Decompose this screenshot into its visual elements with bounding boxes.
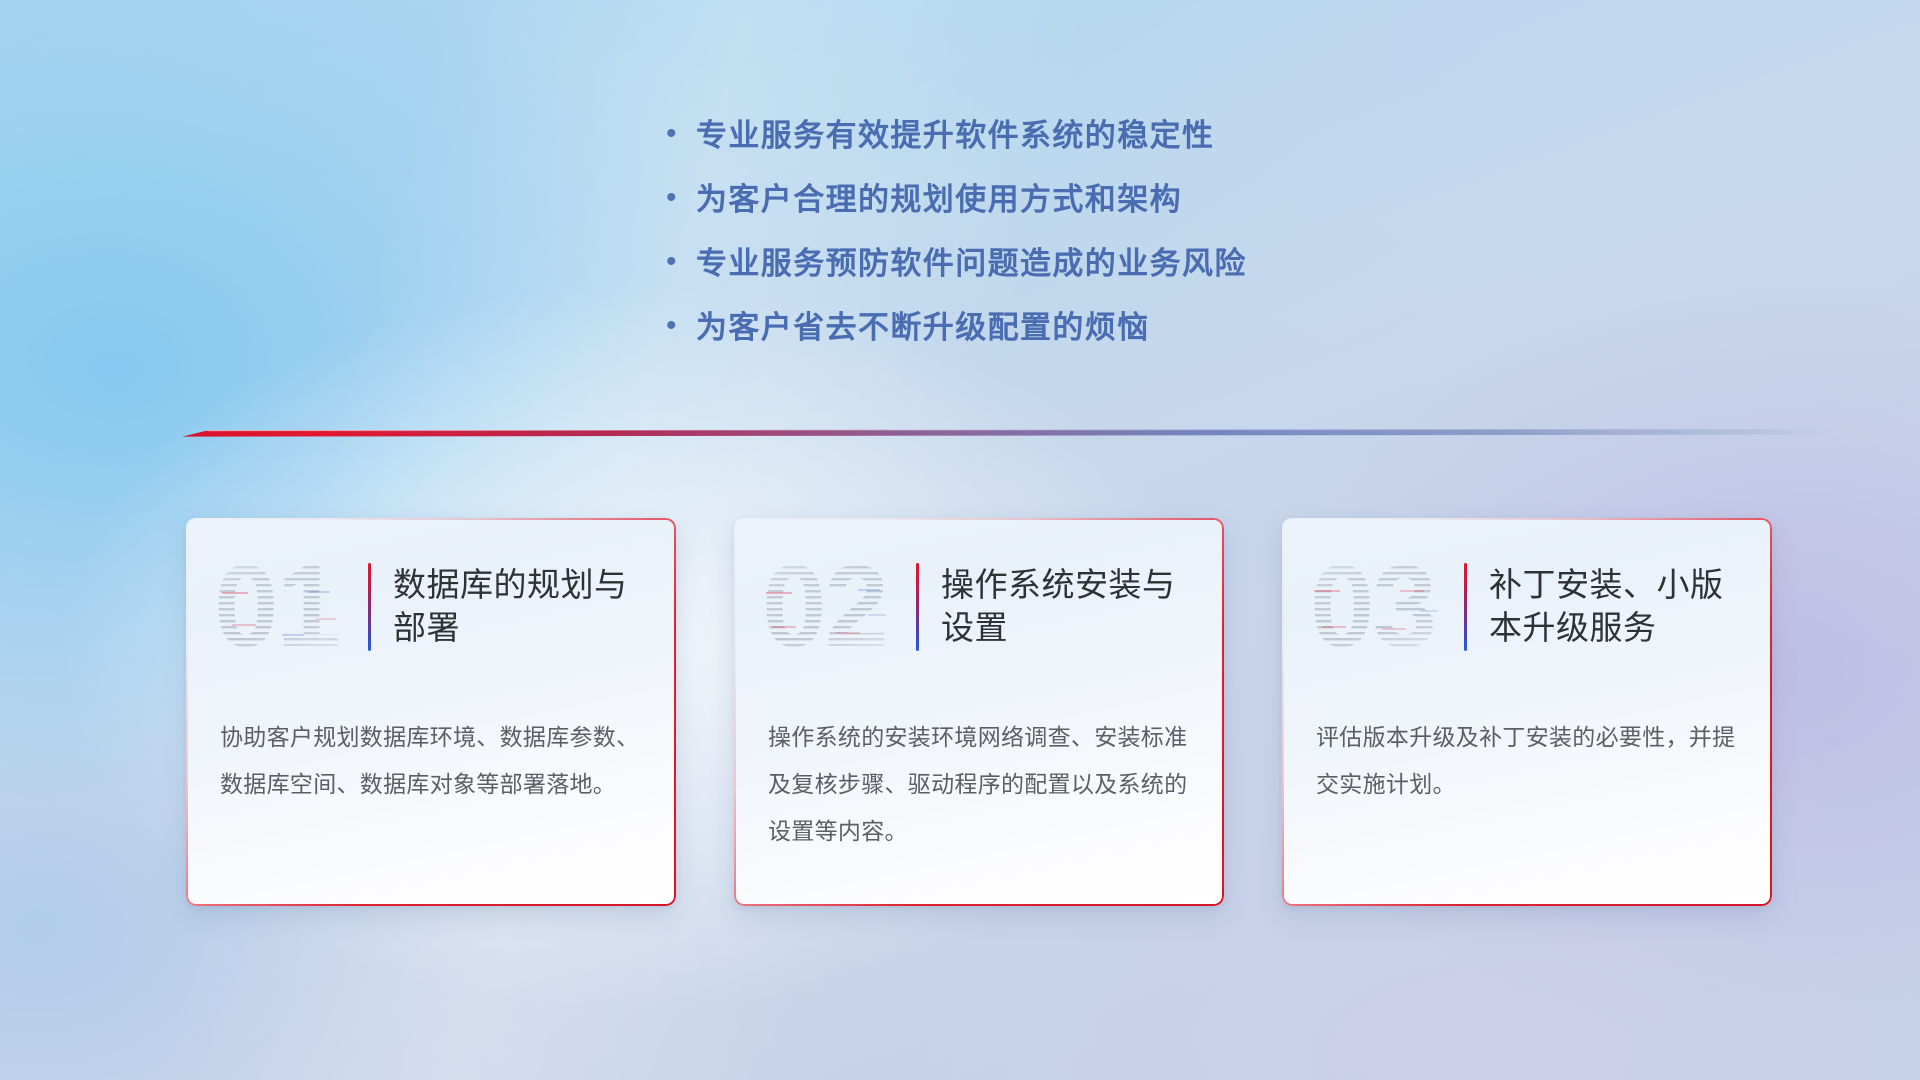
service-card[interactable]: 01 数据库的规划与部署 协助客户规划数据库环境、数据库参数、数据库空间 xyxy=(186,518,676,906)
card-header: 02 操作系统安装与设置 xyxy=(734,544,1224,670)
card-title-accent-bar xyxy=(368,563,371,651)
card-body-text: 协助客户规划数据库环境、数据库参数、数据库空间、数据库对象等部署落地。 xyxy=(220,714,648,808)
svg-text:01: 01 xyxy=(214,548,339,666)
list-item: • 为客户合理的规划使用方式和架构 xyxy=(666,174,1426,238)
card-body-text: 评估版本升级及补丁安装的必要性，并提交实施计划。 xyxy=(1316,714,1744,808)
card-title: 数据库的规划与部署 xyxy=(393,564,676,650)
svg-text:03: 03 xyxy=(1310,548,1435,666)
bullet-dot-icon: • xyxy=(666,119,696,149)
card-title: 补丁安装、小版本升级服务 xyxy=(1489,564,1772,650)
card-number-graphic: 03 xyxy=(1308,548,1458,666)
card-number-graphic: 01 xyxy=(212,548,362,666)
service-card-group: 01 数据库的规划与部署 协助客户规划数据库环境、数据库参数、数据库空间 xyxy=(186,518,1758,910)
card-body-text: 操作系统的安装环境网络调查、安装标准及复核步骤、驱动程序的配置以及系统的设置等内… xyxy=(768,714,1196,855)
list-item: • 专业服务预防软件问题造成的业务风险 xyxy=(666,238,1426,302)
svg-text:02: 02 xyxy=(762,548,887,666)
card-title-accent-bar xyxy=(1464,563,1467,651)
benefits-bullet-list: • 专业服务有效提升软件系统的稳定性 • 为客户合理的规划使用方式和架构 • 专… xyxy=(666,110,1426,366)
service-card[interactable]: 02 操作系统安装与设置 操作系统的安装环境网络调查、安装标准及复核步骤 xyxy=(734,518,1224,906)
slide-canvas: • 专业服务有效提升软件系统的稳定性 • 为客户合理的规划使用方式和架构 • 专… xyxy=(0,0,1920,1080)
bullet-text: 为客户省去不断升级配置的烦恼 xyxy=(696,302,1150,347)
bullet-dot-icon: • xyxy=(666,311,696,341)
list-item: • 为客户省去不断升级配置的烦恼 xyxy=(666,302,1426,366)
bullet-dot-icon: • xyxy=(666,247,696,277)
card-header: 03 补丁安装、小版本升级服务 xyxy=(1282,544,1772,670)
bullet-text: 为客户合理的规划使用方式和架构 xyxy=(696,174,1182,219)
card-title-accent-bar xyxy=(916,563,919,651)
bullet-dot-icon: • xyxy=(666,183,696,213)
bullet-text: 专业服务有效提升软件系统的稳定性 xyxy=(696,110,1214,155)
bullet-text: 专业服务预防软件问题造成的业务风险 xyxy=(696,238,1247,283)
list-item: • 专业服务有效提升软件系统的稳定性 xyxy=(666,110,1426,174)
service-card[interactable]: 03 补丁安装、小版本升级服务 评估版本升级及补丁安装的必要性，并提交实 xyxy=(1282,518,1772,906)
card-title: 操作系统安装与设置 xyxy=(941,564,1224,650)
card-header: 01 数据库的规划与部署 xyxy=(186,544,676,670)
section-divider xyxy=(182,424,1832,442)
card-number-graphic: 02 xyxy=(760,548,910,666)
